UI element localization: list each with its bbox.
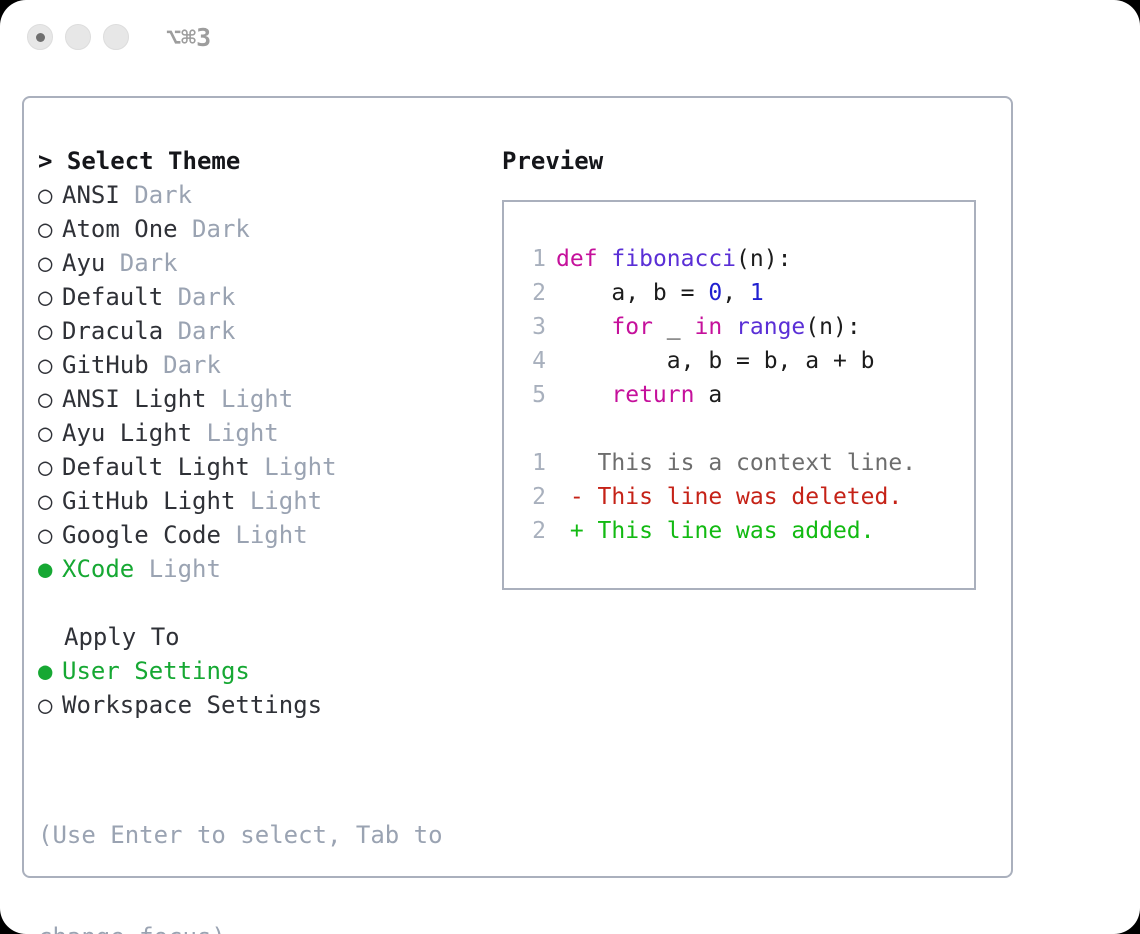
code-indent bbox=[556, 314, 611, 340]
code-token: (n): bbox=[736, 246, 791, 272]
radio-unselected-icon: ○ bbox=[38, 314, 62, 348]
code-token: in bbox=[694, 314, 722, 340]
radio-unselected-icon: ○ bbox=[38, 518, 62, 552]
theme-option-label: Dracula bbox=[62, 317, 163, 345]
code-line-number: 3 bbox=[518, 310, 546, 344]
radio-selected-icon: ● bbox=[38, 552, 62, 586]
theme-option-ansi[interactable]: ○ANSI Dark bbox=[38, 178, 478, 212]
code-indent bbox=[556, 280, 611, 306]
diff-line-del: 2 - This line was deleted. bbox=[518, 480, 968, 514]
apply-to-option-label: Workspace Settings bbox=[62, 691, 322, 719]
code-token: 0 bbox=[708, 280, 722, 306]
apply-to-option-label: User Settings bbox=[62, 657, 250, 685]
theme-option-variant: Dark bbox=[178, 215, 250, 243]
theme-option-ansi-light[interactable]: ○ANSI Light Light bbox=[38, 382, 478, 416]
radio-selected-icon: ● bbox=[38, 654, 62, 688]
theme-option-variant: Light bbox=[235, 487, 322, 515]
theme-option-variant: Light bbox=[221, 521, 308, 549]
radio-unselected-icon: ○ bbox=[38, 280, 62, 314]
apply-to-option-user-settings[interactable]: ●User Settings bbox=[38, 654, 478, 688]
select-theme-header: > Select Theme bbox=[38, 144, 478, 178]
settings-panel: > Select Theme ○ANSI Dark○Atom One Dark○… bbox=[22, 96, 1013, 878]
diff-line-add: 2 + This line was added. bbox=[518, 514, 968, 548]
code-line: 5 return a bbox=[518, 378, 968, 412]
theme-option-variant: Dark bbox=[120, 181, 192, 209]
theme-option-default-light[interactable]: ○Default Light Light bbox=[38, 450, 478, 484]
panel-columns: > Select Theme ○ANSI Dark○Atom One Dark○… bbox=[24, 98, 1011, 876]
theme-picker-column: > Select Theme ○ANSI Dark○Atom One Dark○… bbox=[38, 144, 478, 934]
radio-unselected-icon: ○ bbox=[38, 246, 62, 280]
diff-line-ctx: 1 This is a context line. bbox=[518, 446, 968, 480]
theme-option-label: Atom One bbox=[62, 215, 178, 243]
theme-option-ayu-light[interactable]: ○Ayu Light Light bbox=[38, 416, 478, 450]
code-token: a, b = b, a + b bbox=[667, 348, 875, 374]
app-window: ⌥⌘3 > Select Theme ○ANSI Dark○Atom One D… bbox=[0, 0, 1140, 934]
code-token: (n): bbox=[805, 314, 860, 340]
title-bar: ⌥⌘3 bbox=[0, 0, 1140, 78]
traffic-light-dot-icon bbox=[36, 33, 45, 42]
theme-option-label: Default Light bbox=[62, 453, 250, 481]
radio-unselected-icon: ○ bbox=[38, 382, 62, 416]
code-token: a, b = bbox=[611, 280, 708, 306]
diff-line-number: 2 bbox=[518, 514, 546, 548]
theme-option-variant: Dark bbox=[163, 317, 235, 345]
keyboard-hint-line-2: change focus) bbox=[38, 920, 438, 934]
theme-option-variant: Light bbox=[134, 555, 221, 583]
radio-unselected-icon: ○ bbox=[38, 212, 62, 246]
code-indent bbox=[556, 382, 611, 408]
theme-option-dracula[interactable]: ○Dracula Dark bbox=[38, 314, 478, 348]
code-token: def bbox=[556, 246, 598, 272]
code-line-number: 1 bbox=[518, 242, 546, 276]
theme-list: ○ANSI Dark○Atom One Dark○Ayu Dark○Defaul… bbox=[38, 178, 478, 586]
code-line-number: 2 bbox=[518, 276, 546, 310]
diff-line-text: - This line was deleted. bbox=[556, 484, 902, 510]
theme-option-label: ANSI Light bbox=[62, 385, 207, 413]
code-line: 2 a, b = 0, 1 bbox=[518, 276, 968, 310]
code-token: a bbox=[694, 382, 722, 408]
theme-option-variant: Light bbox=[250, 453, 337, 481]
code-token bbox=[598, 246, 612, 272]
theme-option-variant: Dark bbox=[163, 283, 235, 311]
code-token: return bbox=[611, 382, 694, 408]
theme-option-xcode[interactable]: ●XCode Light bbox=[38, 552, 478, 586]
theme-option-atom-one[interactable]: ○Atom One Dark bbox=[38, 212, 478, 246]
code-token: , bbox=[722, 280, 750, 306]
apply-to-list: ●User Settings○Workspace Settings bbox=[38, 654, 478, 722]
traffic-light-active[interactable] bbox=[27, 24, 53, 50]
diff-line-text: + This line was added. bbox=[556, 518, 875, 544]
code-diff-spacer bbox=[518, 412, 968, 446]
code-token: 1 bbox=[750, 280, 764, 306]
theme-applyto-spacer bbox=[38, 586, 478, 620]
theme-option-github[interactable]: ○GitHub Dark bbox=[38, 348, 478, 382]
code-token: for bbox=[611, 314, 653, 340]
theme-option-label: GitHub bbox=[62, 351, 149, 379]
theme-option-label: GitHub Light bbox=[62, 487, 235, 515]
theme-option-variant: Dark bbox=[149, 351, 221, 379]
code-token: _ bbox=[653, 314, 695, 340]
diff-line-text: This is a context line. bbox=[556, 450, 916, 476]
code-line-number: 4 bbox=[518, 344, 546, 378]
code-line: 1def fibonacci(n): bbox=[518, 242, 968, 276]
theme-option-label: Ayu bbox=[62, 249, 105, 277]
code-preview: 1def fibonacci(n):2 a, b = 0, 13 for _ i… bbox=[518, 242, 968, 548]
diff-line-number: 2 bbox=[518, 480, 546, 514]
traffic-light-second[interactable] bbox=[65, 24, 91, 50]
theme-option-default[interactable]: ○Default Dark bbox=[38, 280, 478, 314]
radio-unselected-icon: ○ bbox=[38, 416, 62, 450]
traffic-light-third[interactable] bbox=[103, 24, 129, 50]
theme-option-variant: Light bbox=[207, 385, 294, 413]
theme-option-variant: Dark bbox=[105, 249, 177, 277]
theme-option-variant: Light bbox=[192, 419, 279, 447]
apply-to-header: Apply To bbox=[38, 620, 478, 654]
theme-option-label: Google Code bbox=[62, 521, 221, 549]
code-token bbox=[722, 314, 736, 340]
keyboard-hint-line-1: (Use Enter to select, Tab to bbox=[38, 818, 438, 852]
radio-unselected-icon: ○ bbox=[38, 178, 62, 212]
diff-line-number: 1 bbox=[518, 446, 546, 480]
theme-option-label: Ayu Light bbox=[62, 419, 192, 447]
preview-box: 1def fibonacci(n):2 a, b = 0, 13 for _ i… bbox=[502, 200, 976, 590]
radio-unselected-icon: ○ bbox=[38, 484, 62, 518]
keyboard-shortcut-label: ⌥⌘3 bbox=[166, 22, 211, 54]
theme-option-label: XCode bbox=[62, 555, 134, 583]
apply-to-option-workspace-settings[interactable]: ○Workspace Settings bbox=[38, 688, 478, 722]
radio-unselected-icon: ○ bbox=[38, 348, 62, 382]
hint-spacer bbox=[38, 722, 478, 750]
theme-option-label: ANSI bbox=[62, 181, 120, 209]
code-line-number: 5 bbox=[518, 378, 546, 412]
preview-column: Preview 1def fibonacci(n):2 a, b = 0, 13… bbox=[502, 144, 1002, 590]
code-line: 3 for _ in range(n): bbox=[518, 310, 968, 344]
theme-option-label: Default bbox=[62, 283, 163, 311]
code-token: range bbox=[736, 314, 805, 340]
window-controls bbox=[27, 24, 129, 50]
theme-option-ayu[interactable]: ○Ayu Dark bbox=[38, 246, 478, 280]
theme-option-google-code[interactable]: ○Google Code Light bbox=[38, 518, 478, 552]
radio-unselected-icon: ○ bbox=[38, 688, 62, 722]
code-indent bbox=[556, 348, 667, 374]
radio-unselected-icon: ○ bbox=[38, 450, 62, 484]
theme-option-github-light[interactable]: ○GitHub Light Light bbox=[38, 484, 478, 518]
code-token: fibonacci bbox=[611, 246, 736, 272]
keyboard-hint: (Use Enter to select, Tab to change focu… bbox=[38, 750, 438, 934]
code-line: 4 a, b = b, a + b bbox=[518, 344, 968, 378]
preview-title: Preview bbox=[502, 144, 1002, 178]
